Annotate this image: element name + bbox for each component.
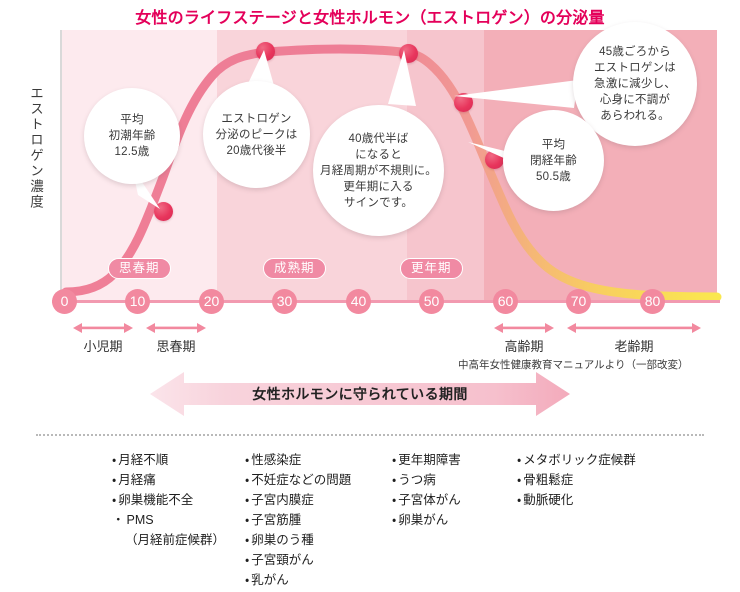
peak-bubble: エストロゲン 分泌のピークは 20歳代後半: [203, 81, 310, 188]
menarche-line-1: 平均: [109, 112, 156, 128]
x-tick-10: 10: [125, 289, 150, 314]
list-item: ・PMS: [112, 510, 225, 530]
perimenopause-line-1: 40歳代半ば: [320, 131, 437, 147]
menopause-line-3: 50.5歳: [530, 169, 577, 185]
x-tick-40: 40: [346, 289, 371, 314]
x-tick-0: 0: [52, 289, 77, 314]
arrow-elderly: [493, 322, 555, 335]
list-item-sub: （月経前症候群）: [112, 530, 225, 550]
disease-column-2: ・性感染症 ・不妊症などの問題 ・子宮内膜症 ・子宮筋腫 ・卵巣のう種 ・子宮頸…: [245, 450, 351, 590]
disease-column-4: ・メタボリック症候群 ・骨粗鬆症 ・動脈硬化: [517, 450, 636, 510]
section-divider: [36, 434, 704, 436]
list-item: ・不妊症などの問題: [245, 470, 351, 490]
menopause-line-2: 閉経年齢: [530, 153, 577, 169]
stage-label-old-age: 老齢期: [566, 336, 702, 355]
x-tick-30: 30: [272, 289, 297, 314]
decline-line-1: 45歳ごろから: [594, 44, 676, 60]
list-item: ・乳がん: [245, 570, 351, 590]
protected-period-text: 女性ホルモンに守られている期間: [252, 384, 468, 404]
stage-pill-menopause: 更年期: [400, 258, 463, 279]
x-tick-80: 80: [640, 289, 665, 314]
stage-label-elderly: 高齢期: [493, 336, 555, 355]
x-tick-50: 50: [419, 289, 444, 314]
decline-bubble-tail: [452, 78, 582, 112]
perimenopause-line-3: 月経周期が不規則に。: [320, 163, 437, 179]
decline-line-5: あらわれる。: [594, 108, 676, 124]
x-tick-60: 60: [493, 289, 518, 314]
peak-line-2: 分泌のピークは: [216, 127, 298, 143]
list-item: ・メタボリック症候群: [517, 450, 636, 470]
list-item: ・子宮筋腫: [245, 510, 351, 530]
list-item: ・更年期障害: [392, 450, 461, 470]
stage-pill-adolescence: 思春期: [108, 258, 171, 279]
disease-column-1: ・月経不順 ・月経痛 ・卵巣機能不全 ・PMS （月経前症候群）: [112, 450, 225, 550]
y-axis-label: エストロゲン濃度: [24, 86, 46, 210]
disease-column-3: ・更年期障害 ・うつ病 ・子宮体がん ・卵巣がん: [392, 450, 461, 530]
stage-label-childhood: 小児期: [72, 336, 134, 355]
perimenopause-line-4: 更年期に入る: [320, 179, 437, 195]
list-item: ・うつ病: [392, 470, 461, 490]
arrow-adolescence: [145, 322, 207, 335]
perimenopause-line-5: サインです。: [320, 195, 437, 211]
perimenopause-bubble-tail: [386, 48, 422, 110]
protected-period-label: 女性ホルモンに守られている期間: [150, 370, 570, 418]
list-item: ・月経不順: [112, 450, 225, 470]
arrow-old-age: [566, 322, 702, 335]
x-axis-line: [52, 300, 720, 303]
list-item: ・子宮内膜症: [245, 490, 351, 510]
x-tick-20: 20: [199, 289, 224, 314]
menopause-line-1: 平均: [530, 137, 577, 153]
menarche-line-2: 初潮年齢: [109, 128, 156, 144]
x-tick-70: 70: [566, 289, 591, 314]
menopause-bubble: 平均 閉経年齢 50.5歳: [503, 110, 604, 211]
list-item: ・卵巣がん: [392, 510, 461, 530]
perimenopause-line-2: になると: [320, 147, 437, 163]
list-item: ・卵巣のう種: [245, 530, 351, 550]
peak-line-3: 20歳代後半: [216, 143, 298, 159]
list-item: ・骨粗鬆症: [517, 470, 636, 490]
list-item: ・子宮体がん: [392, 490, 461, 510]
list-item: ・子宮頸がん: [245, 550, 351, 570]
decline-line-4: 心身に不調が: [594, 92, 676, 108]
stage-pill-maturity: 成熟期: [263, 258, 326, 279]
decline-line-2: エストロゲンは: [594, 60, 676, 76]
peak-line-1: エストロゲン: [216, 111, 298, 127]
list-item: ・動脈硬化: [517, 490, 636, 510]
menarche-bubble: 平均 初潮年齢 12.5歳: [84, 88, 180, 184]
list-item: ・卵巣機能不全: [112, 490, 225, 510]
menarche-line-3: 12.5歳: [109, 144, 156, 160]
stage-label-adolescence: 思春期: [145, 336, 207, 355]
arrow-childhood: [72, 322, 134, 335]
perimenopause-bubble: 40歳代半ば になると 月経周期が不規則に。 更年期に入る サインです。: [313, 105, 444, 236]
list-item: ・性感染症: [245, 450, 351, 470]
list-item: ・月経痛: [112, 470, 225, 490]
decline-line-3: 急激に減少し、: [594, 76, 676, 92]
